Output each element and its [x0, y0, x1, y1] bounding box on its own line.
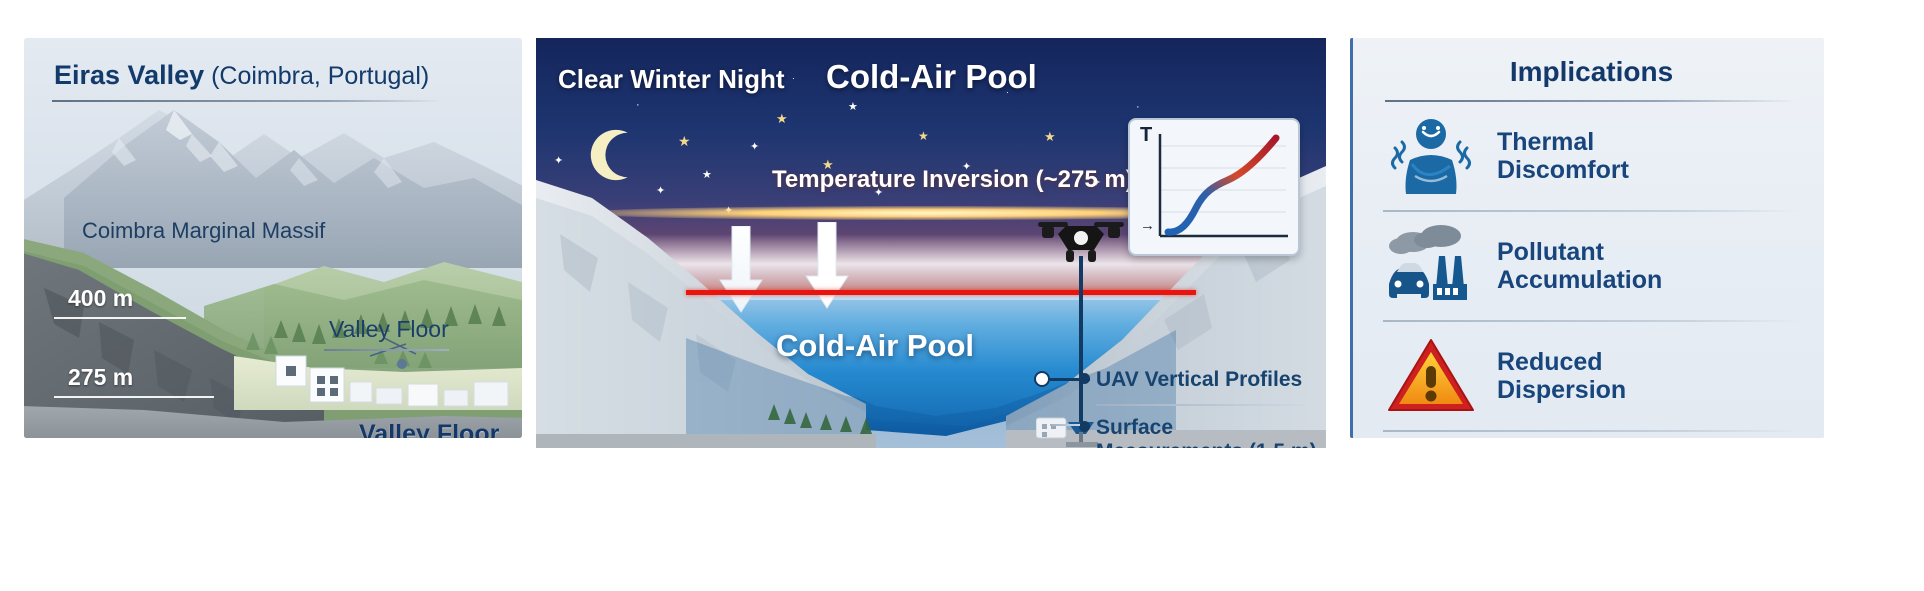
left-panel-title-main: Eiras Valley	[54, 60, 204, 90]
valley-floor-label-upper: Valley Floor	[329, 316, 449, 343]
valley-floor-label-lower: Valley Floor	[359, 420, 499, 438]
uav-drone-icon[interactable]	[1036, 210, 1126, 272]
surface-measurements-line1: Surface	[1096, 416, 1317, 440]
left-panel-title-sub: (Coimbra, Portugal)	[204, 62, 429, 90]
clear-winter-night-label: Clear Winter Night	[558, 64, 785, 95]
inversion-red-line	[686, 290, 1196, 295]
implication-item-reduced-dispersion[interactable]: Reduced Dispersion	[1383, 322, 1800, 430]
elevation-line-275m	[54, 396, 214, 398]
uav-annotation-dot	[1079, 373, 1090, 384]
uav-profile-mast	[1079, 256, 1083, 426]
surface-measurements-label: Surface Measurements (1.5 m)	[1096, 416, 1317, 448]
implication-label-pollutant-accumulation: Pollutant Accumulation	[1497, 238, 1662, 295]
car-factory-smog-icon	[1383, 222, 1479, 310]
implication-item-thermal-discomfort[interactable]: Thermal Discomfort	[1383, 102, 1800, 210]
inset-arrow-glyph: →	[1140, 217, 1155, 234]
left-panel-valley-cross-section: Eiras Valley (Coimbra, Portugal) Coimbra…	[24, 38, 522, 438]
shivering-person-icon	[1385, 112, 1477, 200]
pollutant-line2: Accumulation	[1497, 266, 1662, 295]
right-panel-implications: Implications	[1350, 38, 1824, 438]
left-panel-title-divider	[52, 100, 442, 102]
dispersion-line1: Reduced	[1497, 348, 1626, 377]
valley-floor-upper-divider	[324, 349, 449, 351]
center-panel-cold-air-pool-scene: ✦ ✦ · ✦ ★ ★ ✦ ✦ ★ · ★ ★ ✦ ★ ✦ · ★ ✦ · ★ …	[536, 38, 1326, 448]
infographic-root: Eiras Valley (Coimbra, Portugal) Coimbra…	[0, 0, 1924, 591]
shivering-person-icon-wrap	[1383, 112, 1479, 200]
dispersion-line2: Dispersion	[1497, 376, 1626, 405]
uav-annotation-divider	[1096, 404, 1306, 406]
surface-measurements-line2: Measurements (1.5 m)	[1096, 440, 1317, 448]
thermal-discomfort-line2: Discomfort	[1497, 156, 1629, 185]
elevation-marker-400m: 400 m	[68, 285, 133, 312]
uav-measure-node	[1034, 371, 1050, 387]
cold-air-pool-label: Cold-Air Pool	[776, 328, 974, 364]
elevation-marker-275m: 275 m	[68, 364, 133, 391]
elevation-line-400m	[54, 317, 186, 319]
warning-triangle-icon	[1385, 334, 1477, 418]
cold-air-drainage-arrow-right	[804, 222, 850, 310]
pollutant-line1: Pollutant	[1497, 238, 1662, 267]
temperature-inversion-label: Temperature Inversion (~275 m)	[772, 166, 1134, 194]
implications-divider-3	[1383, 430, 1800, 432]
implication-item-pollutant-accumulation[interactable]: Pollutant Accumulation	[1383, 212, 1800, 320]
implications-title: Implications	[1383, 56, 1800, 88]
implication-label-reduced-dispersion: Reduced Dispersion	[1497, 348, 1626, 405]
thermal-discomfort-line1: Thermal	[1497, 128, 1629, 157]
temperature-profile-chart: →	[1130, 120, 1298, 254]
temperature-profile-inset: T →	[1128, 118, 1300, 256]
uav-vertical-profiles-label: UAV Vertical Profiles	[1096, 368, 1302, 392]
massif-label: Coimbra Marginal Massif	[82, 218, 325, 244]
center-panel-headline: Cold-Air Pool	[826, 58, 1037, 96]
car-factory-smog-icon-wrap	[1383, 222, 1479, 310]
implication-label-thermal-discomfort: Thermal Discomfort	[1497, 128, 1629, 185]
warning-triangle-icon-wrap	[1383, 334, 1479, 418]
cold-air-drainage-arrow-left	[718, 226, 764, 314]
surface-annotation-dot	[1079, 421, 1090, 432]
left-panel-title: Eiras Valley (Coimbra, Portugal)	[54, 60, 429, 91]
surface-leader-line	[1050, 424, 1080, 426]
